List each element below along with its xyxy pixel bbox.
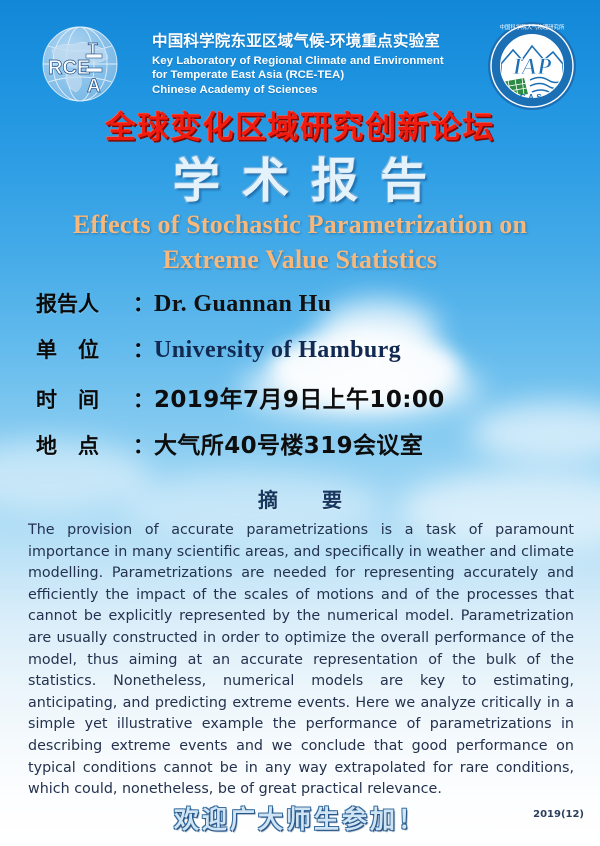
welcome-message: 欢迎广大师生参加！ [0, 800, 600, 836]
svg-text:IAP: IAP [512, 54, 552, 79]
time-value: 2019年7月9日上午10:00 [154, 380, 445, 414]
affiliation-label: 单 位： [36, 334, 154, 364]
svg-text:中国科学院大气物理研究所: 中国科学院大气物理研究所 [500, 23, 565, 31]
issue-number: 2019(12) [533, 809, 584, 820]
info-row-time: 时 间： 2019年7月9日上午10:00 [36, 380, 556, 426]
svg-text:CAS: CAS [520, 93, 544, 102]
info-row-affiliation: 单 位： University of Hamburg [36, 334, 556, 380]
time-label: 时 间： [36, 384, 154, 414]
place-label: 地 点： [36, 430, 154, 460]
organization-name-en-line2: for Temperate East Asia (RCE-TEA) [152, 68, 472, 83]
rce-tea-logo-icon: RCE T A [28, 24, 132, 108]
organization-name-cn: 中国科学院东亚区域气候-环境重点实验室 [152, 32, 472, 52]
english-title-line1: Effects of Stochastic Parametrization on [30, 207, 570, 242]
abstract-heading: 摘 要 [0, 484, 600, 513]
svg-text:A: A [87, 76, 101, 97]
info-row-place: 地 点： 大气所40号楼319会议室 [36, 426, 556, 472]
organization-name-en-line3: Chinese Academy of Sciences [152, 83, 472, 98]
forum-title: 全球变化区域研究创新论坛 [0, 102, 600, 147]
place-value: 大气所40号楼319会议室 [154, 426, 423, 460]
iap-cas-logo-icon: IAP CAS 中国科学院大气物理研究所 [486, 20, 578, 112]
seminar-poster: RCE T A 中国科学院东亚区域气候-环境重点实验室 Key Laborato… [0, 0, 600, 846]
info-row-speaker: 报告人： Dr. Guannan Hu [36, 288, 556, 334]
affiliation-value: University of Hamburg [154, 337, 401, 364]
organization-text: 中国科学院东亚区域气候-环境重点实验室 Key Laboratory of Re… [152, 32, 472, 98]
poster-header: RCE T A 中国科学院东亚区域气候-环境重点实验室 Key Laborato… [0, 14, 600, 110]
english-title: Effects of Stochastic Parametrization on… [30, 207, 570, 278]
speaker-value: Dr. Guannan Hu [154, 291, 331, 318]
speaker-label: 报告人： [36, 288, 154, 318]
report-title: 学术报告 [0, 142, 600, 211]
svg-text:RCE: RCE [48, 57, 90, 79]
seminar-info: 报告人： Dr. Guannan Hu 单 位： University of H… [36, 288, 556, 472]
abstract-body: The provision of accurate parametrizatio… [28, 520, 574, 801]
organization-name-en-line1: Key Laboratory of Regional Climate and E… [152, 54, 472, 69]
english-title-line2: Extreme Value Statistics [30, 242, 570, 277]
